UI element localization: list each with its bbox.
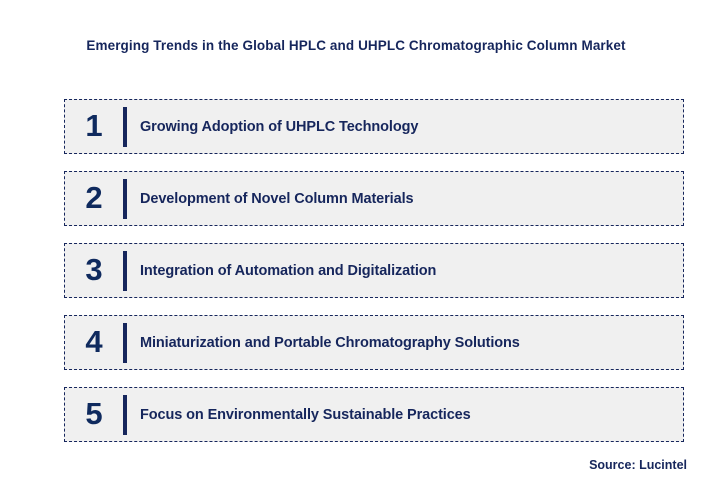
source-attribution: Source: Lucintel (589, 458, 687, 472)
trend-rank-number: 1 (65, 110, 123, 143)
infographic-canvas: Emerging Trends in the Global HPLC and U… (0, 0, 712, 501)
trend-rank-number: 4 (65, 326, 123, 359)
trend-label: Growing Adoption of UHPLC Technology (127, 119, 683, 135)
trend-rank-number: 3 (65, 254, 123, 287)
trend-row: 5 Focus on Environmentally Sustainable P… (64, 387, 684, 442)
trend-rank-number: 2 (65, 182, 123, 215)
trend-label: Integration of Automation and Digitaliza… (127, 263, 683, 279)
trend-row: 2 Development of Novel Column Materials (64, 171, 684, 226)
trend-row: 4 Miniaturization and Portable Chromatog… (64, 315, 684, 370)
trend-label: Focus on Environmentally Sustainable Pra… (127, 407, 683, 423)
page-title: Emerging Trends in the Global HPLC and U… (0, 38, 712, 53)
trend-row: 1 Growing Adoption of UHPLC Technology (64, 99, 684, 154)
trend-label: Development of Novel Column Materials (127, 191, 683, 207)
trend-rank-number: 5 (65, 398, 123, 431)
trend-list: 1 Growing Adoption of UHPLC Technology 2… (64, 99, 684, 459)
trend-label: Miniaturization and Portable Chromatogra… (127, 335, 683, 351)
trend-row: 3 Integration of Automation and Digitali… (64, 243, 684, 298)
